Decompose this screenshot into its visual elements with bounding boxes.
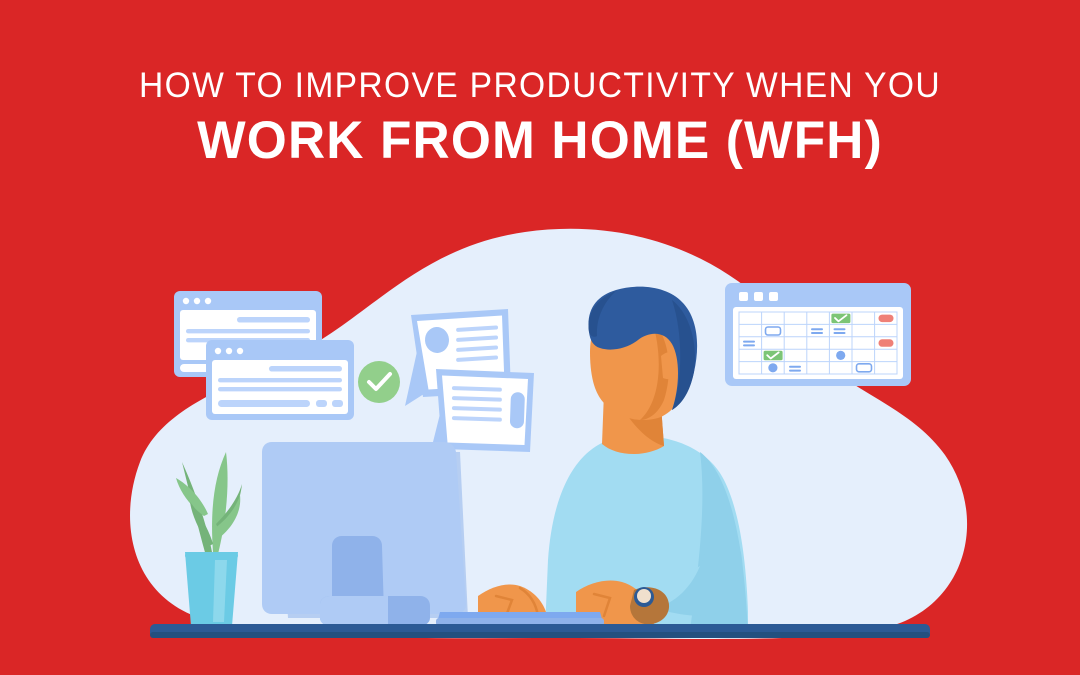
computer-monitor[interactable] xyxy=(262,442,468,626)
keyboard[interactable] xyxy=(436,612,604,626)
wfh-banner: HOW TO IMPROVE PRODUCTIVITY WHEN YOU WOR… xyxy=(0,0,1080,675)
headline-line-1: HOW TO IMPROVE PRODUCTIVITY WHEN YOU xyxy=(22,64,1059,108)
desk-surface xyxy=(150,624,930,638)
browser-window-front[interactable] xyxy=(206,340,354,420)
page-title: HOW TO IMPROVE PRODUCTIVITY WHEN YOU WOR… xyxy=(0,64,1080,172)
headline-line-2: WORK FROM HOME (WFH) xyxy=(16,110,1064,172)
calendar-window[interactable] xyxy=(725,283,911,386)
green-check-badge[interactable] xyxy=(358,361,400,403)
